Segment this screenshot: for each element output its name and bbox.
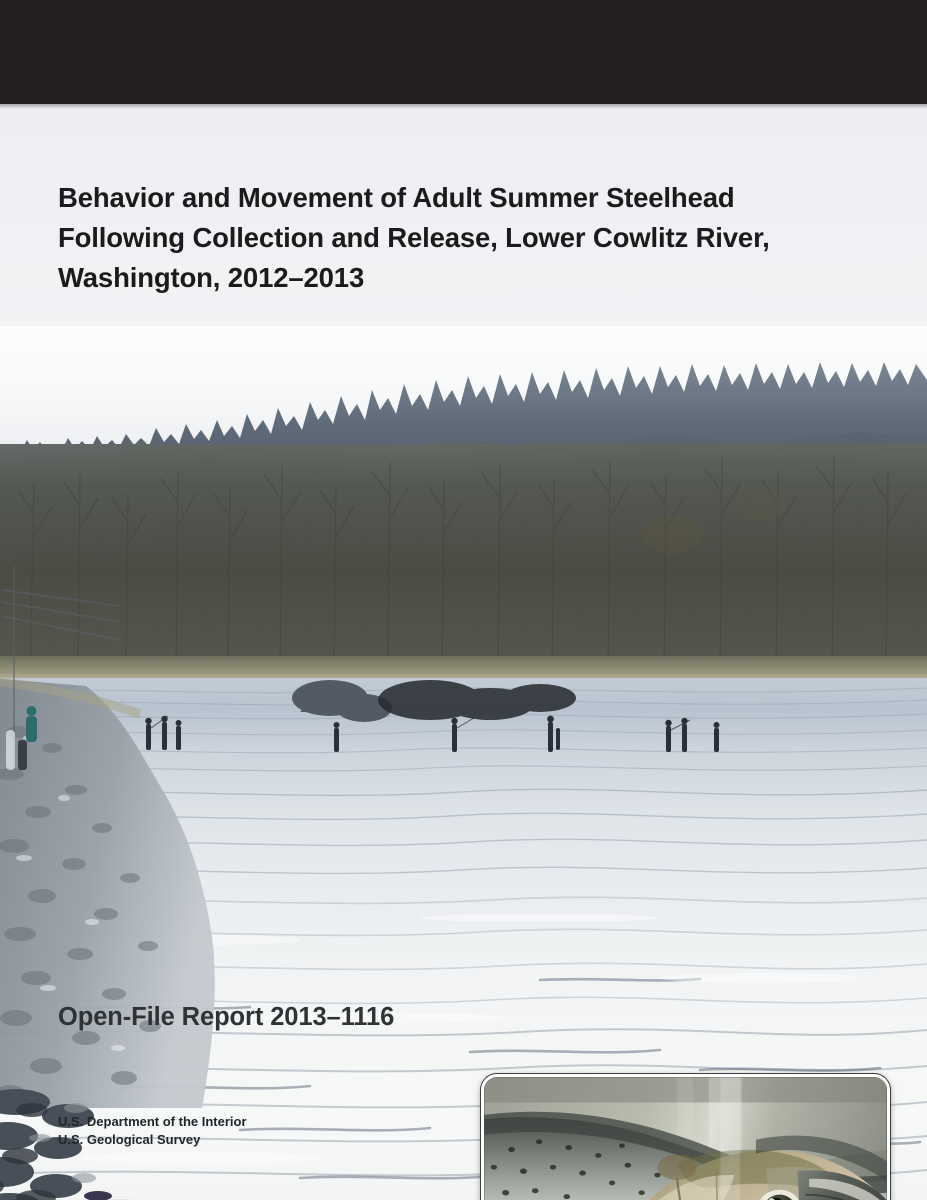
report-cover-page: USGS science for a changing world Behavi… <box>0 0 927 1200</box>
agency-line-department: U.S. Department of the Interior <box>58 1113 247 1131</box>
page-title: Behavior and Movement of Adult Summer St… <box>58 178 848 298</box>
photo-forested-hillside <box>0 444 927 674</box>
photo-anglers <box>0 678 927 798</box>
agency-block: U.S. Department of the Interior U.S. Geo… <box>58 1113 247 1149</box>
photo-bare-trees <box>0 444 927 674</box>
banner-drop-shadow <box>0 104 927 109</box>
title-line-2: Following Collection and Release, Lower … <box>58 218 848 258</box>
title-line-3: Washington, 2012–2013 <box>58 258 848 298</box>
agency-line-survey: U.S. Geological Survey <box>58 1131 247 1149</box>
cover-photograph <box>0 326 927 1200</box>
title-line-1: Behavior and Movement of Adult Summer St… <box>58 178 848 218</box>
report-number: Open-File Report 2013–1116 <box>58 1003 394 1032</box>
usgs-header-banner <box>0 0 927 104</box>
fish-inset-photo <box>481 1074 890 1200</box>
fish-inset-image <box>484 1077 887 1200</box>
